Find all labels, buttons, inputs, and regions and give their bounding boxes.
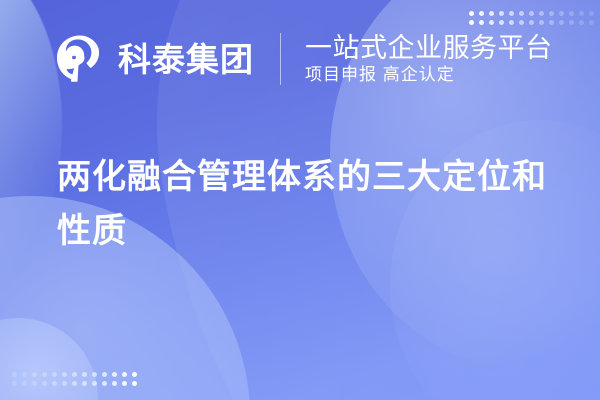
- decor-dot: [42, 381, 47, 386]
- decor-dot: [52, 381, 57, 386]
- decor-dot: [92, 381, 97, 386]
- header-divider: [280, 33, 281, 85]
- decor-dot: [72, 381, 77, 386]
- decor-dot: [82, 381, 87, 386]
- tagline-block: 一站式企业服务平台 项目申报 高企认定: [305, 34, 553, 85]
- decor-dot: [132, 381, 137, 386]
- decor-dot: [32, 381, 37, 386]
- tagline-main-text: 一站式企业服务平台: [305, 34, 553, 63]
- page-title: 两化融合管理体系的三大定位和性质: [57, 150, 557, 259]
- decor-dot: [12, 372, 17, 377]
- decor-dot: [32, 372, 37, 377]
- decor-dot: [122, 372, 127, 377]
- decor-bottom-left-glow-shape: [0, 318, 98, 400]
- decor-dot: [62, 381, 67, 386]
- decor-dot: [102, 381, 107, 386]
- decor-dot-grid-bottom-left: [12, 372, 137, 386]
- brand-lockup: 科泰集团: [55, 34, 254, 84]
- decor-dot: [72, 372, 77, 377]
- decor-dot: [92, 372, 97, 377]
- brand-name-text: 科泰集团: [118, 43, 254, 76]
- decor-dot: [102, 372, 107, 377]
- decor-dot: [112, 372, 117, 377]
- article-cover-banner: 科泰集团 一站式企业服务平台 项目申报 高企认定 两化融合管理体系的三大定位和性…: [0, 0, 600, 400]
- decor-dot: [62, 372, 67, 377]
- decor-dot: [22, 372, 27, 377]
- banner-header: 科泰集团 一站式企业服务平台 项目申报 高企认定: [0, 0, 600, 118]
- decor-dot: [112, 381, 117, 386]
- decor-dot: [22, 381, 27, 386]
- decor-dot: [12, 381, 17, 386]
- decor-dot: [42, 372, 47, 377]
- decor-dot: [52, 372, 57, 377]
- decor-dot: [122, 381, 127, 386]
- tagline-sub-text: 项目申报 高企认定: [305, 66, 553, 85]
- title-block: 两化融合管理体系的三大定位和性质: [57, 150, 557, 259]
- decor-dot: [132, 372, 137, 377]
- decor-dot: [82, 372, 87, 377]
- ketai-circular-logo-icon: [55, 34, 105, 84]
